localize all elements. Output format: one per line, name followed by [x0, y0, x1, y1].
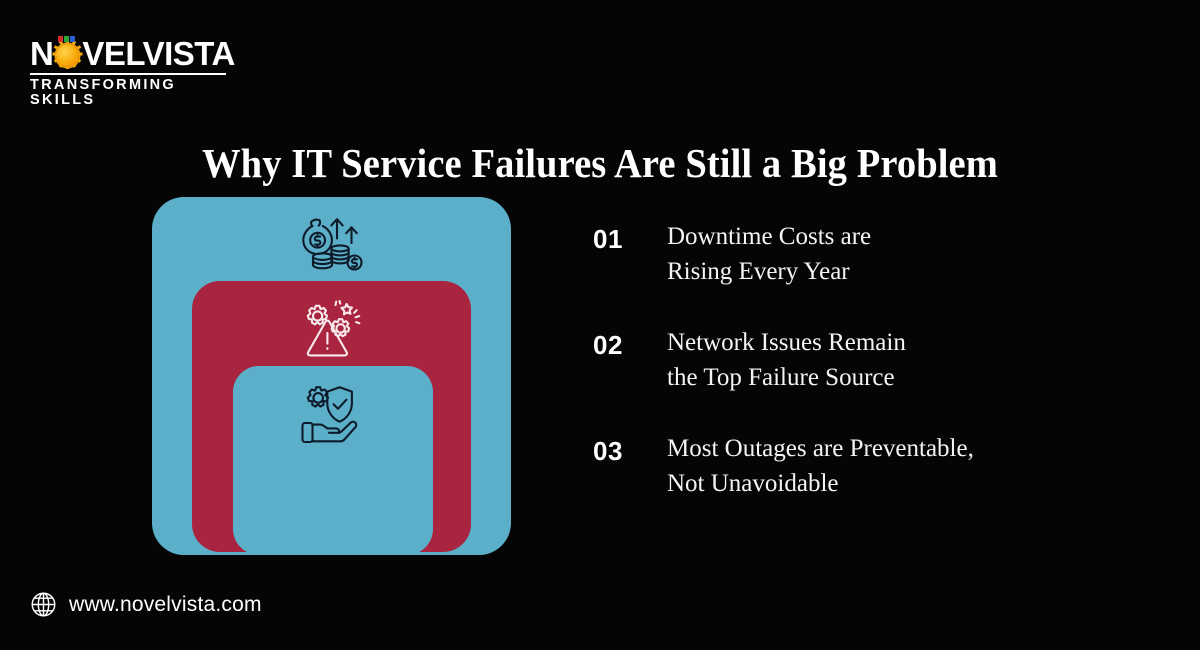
point-number: 02: [593, 325, 667, 361]
point-text: Downtime Costs are Rising Every Year: [667, 219, 871, 289]
point-number: 01: [593, 219, 667, 255]
money-bag-rising-arrows-icon: [296, 211, 368, 277]
globe-icon: [30, 591, 57, 618]
point-text: Network Issues Remain the Top Failure So…: [667, 325, 906, 395]
logo-divider: [30, 73, 226, 75]
point-number: 03: [593, 431, 667, 467]
logo-tagline: TRANSFORMING SKILLS: [30, 78, 235, 107]
novelvista-logo: N VELVISTA TRANSFORM: [30, 36, 235, 94]
list-item: 03 Most Outages are Preventable, Not Una…: [593, 431, 1113, 501]
point-text: Most Outages are Preventable, Not Unavoi…: [667, 431, 974, 501]
footer-website: www.novelvista.com: [30, 591, 262, 618]
list-item: 02 Network Issues Remain the Top Failure…: [593, 325, 1113, 395]
list-item: 01 Downtime Costs are Rising Every Year: [593, 219, 1113, 289]
warning-triangle-gears-icon: [296, 297, 368, 363]
page-title: Why IT Service Failures Are Still a Big …: [36, 140, 1164, 187]
logo-wordmark: N VELVISTA: [30, 36, 235, 70]
website-url: www.novelvista.com: [69, 593, 262, 617]
logo-word-pre: N: [30, 37, 53, 70]
logo-word-post: VELVISTA: [82, 37, 234, 70]
inner-box-layer: [233, 366, 433, 555]
infographic-canvas: N VELVISTA TRANSFORM: [0, 0, 1200, 650]
nested-boxes-graphic: [152, 197, 511, 555]
sun-logo-icon: [54, 40, 81, 67]
hand-shield-check-gear-icon: [297, 380, 369, 446]
key-points-list: 01 Downtime Costs are Rising Every Year …: [593, 219, 1113, 501]
logo-pixel-dots: [58, 36, 75, 42]
